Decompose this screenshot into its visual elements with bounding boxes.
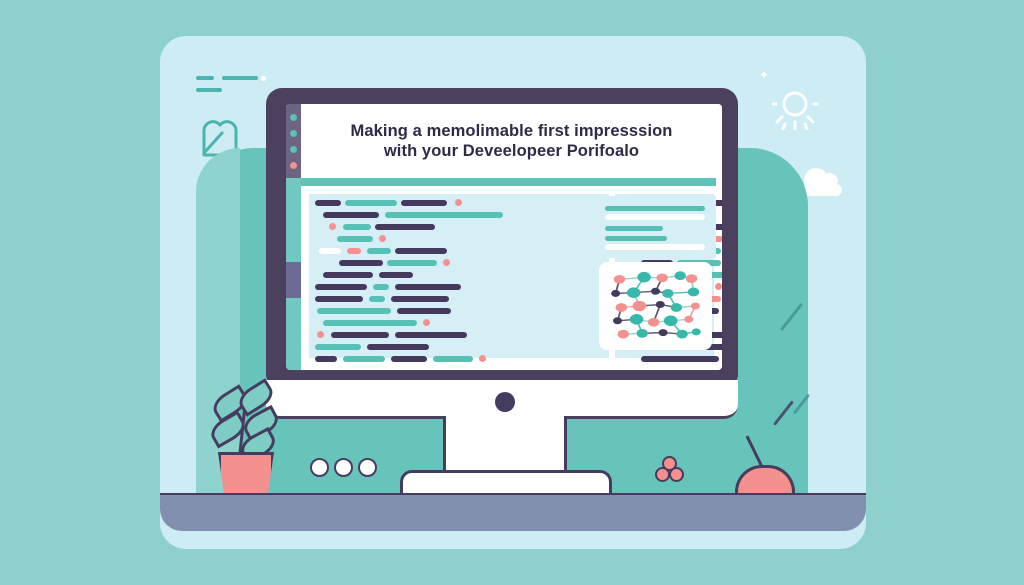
page-title: Making a memolimable first impresssion w… xyxy=(343,121,681,162)
code-dot xyxy=(479,355,486,362)
code-bar xyxy=(373,284,389,290)
code-block-left xyxy=(309,194,609,358)
graph-node xyxy=(662,289,673,298)
decor-dash-2 xyxy=(222,76,258,80)
code-bar xyxy=(391,296,449,302)
code-bar xyxy=(641,356,719,362)
code-dot xyxy=(329,223,336,230)
graph-node xyxy=(664,316,678,327)
graph-node xyxy=(651,288,660,295)
rail-block-upper xyxy=(286,178,301,262)
code-bar xyxy=(401,200,447,206)
graph-node xyxy=(686,274,697,283)
code-bar xyxy=(391,356,427,362)
decor-circle-2 xyxy=(334,458,353,477)
graph-node xyxy=(684,316,693,323)
monitor-screen[interactable]: Making a memolimable first impresssion w… xyxy=(286,104,722,370)
graph-node xyxy=(630,314,644,325)
page-title-line-1: Making a memolimable first impresssion xyxy=(351,122,673,140)
decor-dot-topleft xyxy=(261,76,266,81)
graph-node xyxy=(676,330,687,339)
graph-node xyxy=(616,303,627,312)
code-bar xyxy=(343,356,385,362)
code-bar xyxy=(345,200,397,206)
decor-circle-1 xyxy=(310,458,329,477)
article-title-area: Making a memolimable first impresssion w… xyxy=(301,104,722,178)
code-dot xyxy=(423,319,430,326)
sparkle-icon: ✦ xyxy=(759,70,769,80)
graph-node xyxy=(611,290,620,297)
rail-block-middle xyxy=(286,262,301,298)
code-bar xyxy=(315,356,337,362)
code-bar xyxy=(367,248,391,254)
graph-node xyxy=(688,288,699,297)
code-bar xyxy=(369,296,385,302)
graph-node xyxy=(613,317,622,324)
network-graph-card[interactable] xyxy=(599,262,712,350)
code-bar xyxy=(315,344,361,350)
illustration-canvas: ✦ xyxy=(0,0,1024,585)
code-bar xyxy=(323,320,417,326)
graph-node xyxy=(648,318,659,327)
code-bar xyxy=(387,260,437,266)
code-bar xyxy=(323,212,379,218)
code-bar xyxy=(315,284,367,290)
rail-dot-3[interactable] xyxy=(290,146,297,153)
decor-circle-3 xyxy=(358,458,377,477)
decor-dash-3 xyxy=(196,88,222,92)
code-bar xyxy=(343,224,371,230)
code-bar xyxy=(395,248,447,254)
sidebar-widget-top xyxy=(597,196,716,258)
rail-dot-4[interactable] xyxy=(290,162,297,169)
code-bar xyxy=(337,236,373,242)
rail-block-lower xyxy=(286,298,301,370)
berry-2 xyxy=(655,467,670,482)
side-line-3 xyxy=(605,236,667,241)
graph-node xyxy=(633,301,647,312)
side-white-1 xyxy=(605,214,705,220)
code-bar xyxy=(323,272,373,278)
sun-icon xyxy=(772,84,818,130)
decor-dash-1 xyxy=(196,76,214,80)
code-bar xyxy=(395,332,467,338)
code-bar xyxy=(375,224,435,230)
graph-node xyxy=(675,271,686,280)
code-bar xyxy=(315,200,341,206)
graph-node xyxy=(614,275,625,284)
page-title-line-2: with your Deveelopeer Porifoalo xyxy=(384,142,639,160)
code-bar xyxy=(347,248,361,254)
code-dot xyxy=(443,259,450,266)
graph-node xyxy=(659,329,668,336)
network-graph xyxy=(599,262,712,350)
code-bar xyxy=(397,308,451,314)
graph-node xyxy=(637,272,651,283)
rail-dot-1[interactable] xyxy=(290,114,297,121)
side-line-2 xyxy=(605,226,663,231)
side-line-1 xyxy=(605,206,705,211)
code-dot xyxy=(379,235,386,242)
browser-side-rail xyxy=(286,104,301,370)
graph-node xyxy=(618,330,629,339)
title-accent-bar xyxy=(301,178,716,186)
code-bar xyxy=(385,212,503,218)
code-dot xyxy=(317,331,324,338)
rail-dot-2[interactable] xyxy=(290,130,297,137)
graph-node xyxy=(637,329,648,338)
code-bar xyxy=(319,248,341,254)
code-bar xyxy=(317,308,391,314)
graph-node xyxy=(656,301,665,308)
code-bar xyxy=(433,356,473,362)
graph-node xyxy=(692,328,701,335)
wall-backdrop-highlight xyxy=(196,148,240,504)
code-dot xyxy=(455,199,462,206)
code-bar xyxy=(379,272,413,278)
berry-3 xyxy=(669,467,684,482)
code-bar xyxy=(315,296,363,302)
code-bar xyxy=(331,332,389,338)
code-dot xyxy=(715,283,722,290)
code-bar xyxy=(339,260,383,266)
side-white-2 xyxy=(605,244,705,250)
graph-node xyxy=(671,303,682,312)
plant-pot xyxy=(218,452,274,499)
code-bar xyxy=(395,284,461,290)
monitor-camera-dot xyxy=(495,392,515,412)
desk-surface xyxy=(160,495,866,531)
code-bar xyxy=(367,344,429,350)
graph-node xyxy=(627,287,641,298)
graph-node xyxy=(656,274,667,283)
graph-node xyxy=(691,302,700,309)
